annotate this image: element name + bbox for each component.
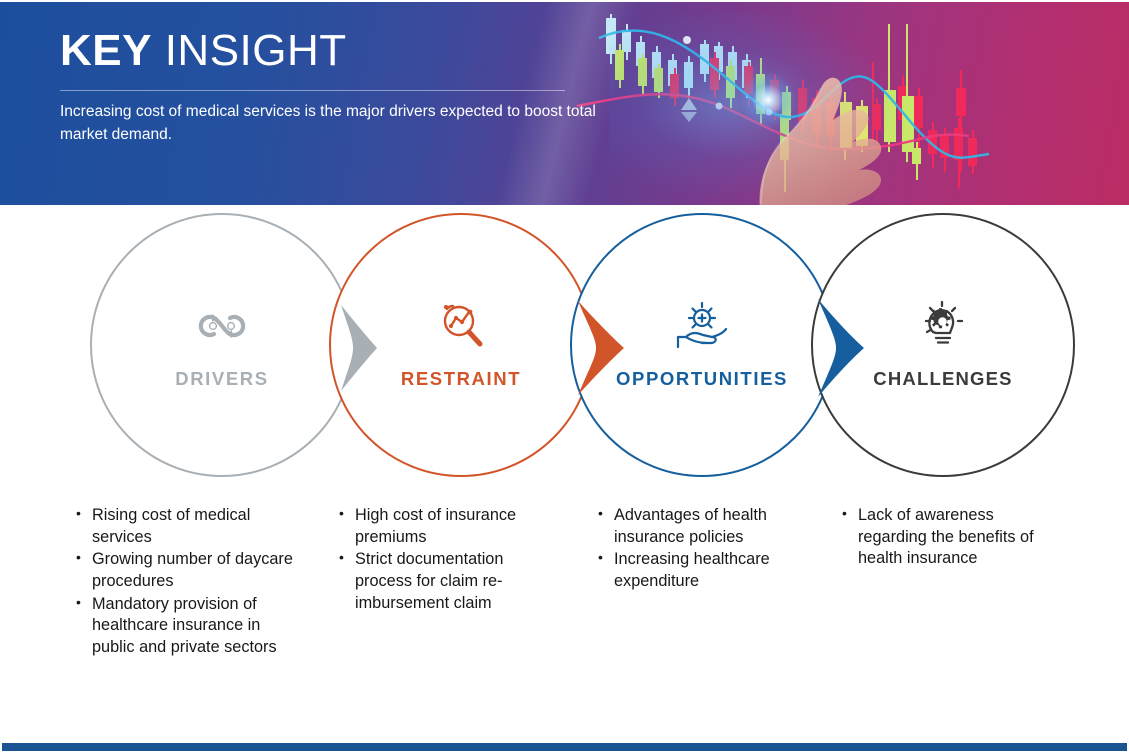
list-item: Lack of awareness regarding the benefits…	[838, 505, 1060, 570]
key-insight-infographic: KEY INSIGHT Increasing cost of medical s…	[0, 0, 1129, 755]
hand-holding-medical-plus-icon	[672, 300, 732, 352]
header-artwork	[569, 2, 1129, 205]
stage-circle-drivers[interactable]: DRIVERS	[90, 213, 354, 477]
chevron-right-arrow-icon	[578, 301, 626, 395]
list-item: Mandatory provision of healthcare insura…	[72, 594, 302, 659]
bullet-column-challenges: Lack of awareness regarding the benefits…	[838, 505, 1060, 571]
page-subtitle: Increasing cost of medical services is t…	[60, 100, 640, 147]
stage-label-restraint: RESTRAINT	[401, 368, 521, 390]
title-divider	[60, 90, 565, 91]
list-item: Advantages of health insurance policies	[594, 505, 814, 548]
bullet-columns: Rising cost of medical services Growing …	[0, 505, 1129, 735]
bullet-column-drivers: Rising cost of medical services Growing …	[72, 505, 302, 660]
stage-label-opportunities: OPPORTUNITIES	[616, 368, 788, 390]
page-title-light: INSIGHT	[152, 26, 347, 75]
connector-restraint-to-opportunities	[578, 301, 626, 400]
page-title: KEY INSIGHT	[60, 28, 347, 74]
stage-circles-row: DRIVERS	[0, 205, 1129, 505]
chevron-right-arrow-icon	[339, 305, 379, 391]
footer-accent-bar	[2, 743, 1127, 751]
list-item: Strict documentation process for claim r…	[335, 549, 563, 614]
stage-label-challenges: CHALLENGES	[873, 368, 1012, 390]
page-title-bold: KEY	[60, 26, 152, 75]
bullet-column-restraint: High cost of insurance premiums Strict d…	[335, 505, 563, 615]
chevron-right-arrow-icon	[818, 299, 866, 397]
connector-drivers-to-restraint	[339, 305, 379, 396]
bullet-column-opportunities: Advantages of health insurance policies …	[594, 505, 814, 594]
hand-pointing-graphic	[709, 44, 929, 205]
magnifying-glass-chart-icon	[435, 300, 487, 352]
connector-opportunities-to-challenges	[818, 299, 866, 402]
infinity-cycle-arrows-icon	[194, 300, 250, 352]
list-item: Growing number of daycare procedures	[72, 549, 302, 592]
list-item: Increasing healthcare expenditure	[594, 549, 814, 592]
list-item: High cost of insurance premiums	[335, 505, 563, 548]
stage-label-drivers: DRIVERS	[175, 368, 268, 390]
header-banner: KEY INSIGHT Increasing cost of medical s…	[0, 2, 1129, 205]
lightbulb-gear-icon	[917, 300, 969, 352]
list-item: Rising cost of medical services	[72, 505, 302, 548]
